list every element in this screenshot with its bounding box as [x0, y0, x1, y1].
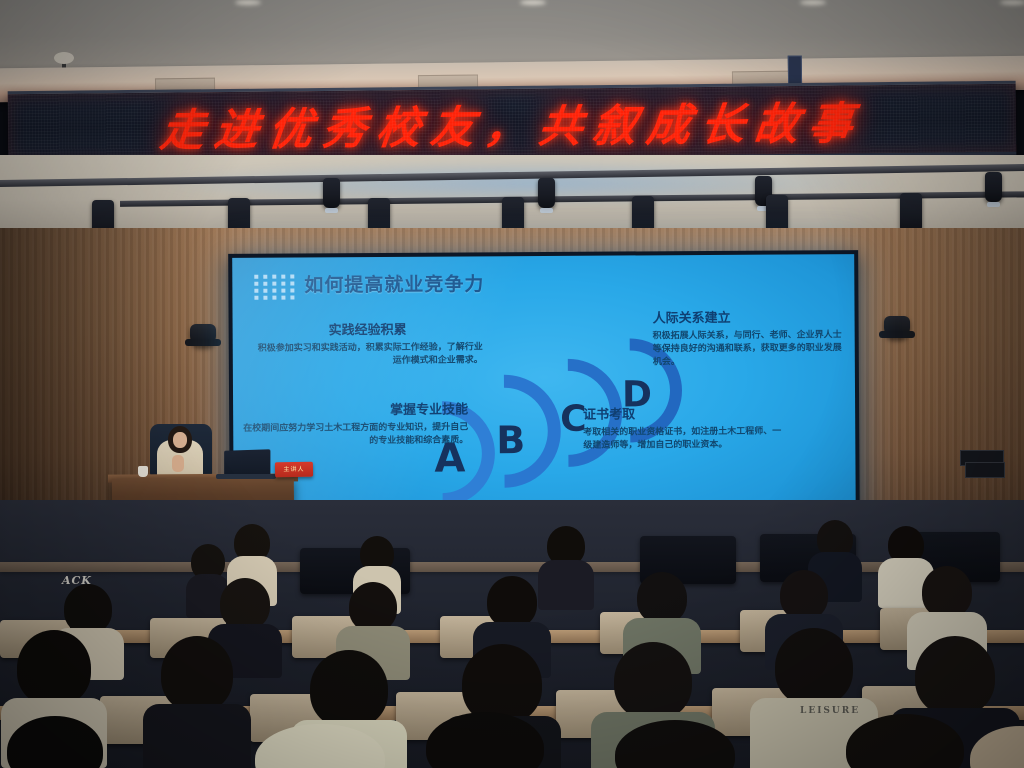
projection-screen-frame: 如何提高就业竞争力 A B C D [228, 250, 860, 532]
person-head [846, 714, 964, 768]
person-head [7, 716, 103, 768]
audience-person-foreground [830, 714, 980, 768]
stage-spotlight-icon [985, 172, 1002, 202]
stage-spotlight-icon [538, 178, 555, 208]
wall-speaker-icon [190, 324, 216, 346]
water-cup [138, 466, 148, 477]
lecture-hall-photo: 走进优秀校友，共叙成长故事 如何提高就业竞争力 [0, 0, 1024, 768]
person-head [161, 636, 233, 712]
audience-person-foreground [600, 720, 750, 768]
presentation-slide: 如何提高就业竞争力 A B C D [232, 254, 856, 528]
person-head [426, 712, 544, 768]
slide-block-c: 证书考取 考取相关的职业资格证书，如注册土木工程师、一级建造师等，增加自己的职业… [583, 403, 783, 453]
slide-block-b-body: 积极参加实习和实践活动，积累实际工作经验，了解行业运作模式和企业需求。 [253, 341, 483, 368]
audience-area: LEISURE ACK [0, 500, 1024, 768]
laptop-base [216, 474, 276, 479]
led-banner: 走进优秀校友，共叙成长故事 [8, 81, 1017, 166]
person-head [255, 724, 385, 768]
audience-person-foreground [0, 716, 120, 768]
person-head [970, 726, 1024, 768]
slide-dot-grid-decoration [254, 275, 296, 300]
wall-speaker-icon [884, 316, 910, 338]
person-head [922, 566, 972, 618]
audience-person-foreground [960, 726, 1024, 768]
person-head [487, 576, 537, 628]
ceiling-fixture [54, 52, 74, 64]
slide-block-c-heading: 证书考取 [583, 403, 783, 423]
slide-block-d-heading: 人际关系建立 [652, 306, 842, 326]
slide-title: 如何提高就业竞争力 [304, 269, 484, 297]
stage-spotlight-icon [900, 193, 922, 233]
slide-block-b: 实践经验积累 积极参加实习和实践活动，积累实际工作经验，了解行业运作模式和企业需… [253, 318, 483, 368]
person-head [915, 636, 995, 716]
wall-vent-grille [965, 462, 1005, 478]
led-banner-text: 走进优秀校友，共叙成长故事 [157, 87, 866, 158]
ceiling-light [520, 0, 546, 5]
slide-block-a-body: 在校期间应努力学习土木工程方面的专业知识，提升自己的专业技能和综合素质。 [243, 421, 468, 448]
person-head [614, 642, 692, 720]
jacket-graphic-text: ACK [62, 574, 92, 587]
speaker-nameplate: 主讲人 [275, 462, 313, 478]
person-head [64, 584, 112, 634]
slide-block-d: 人际关系建立 积极拓展人际关系，与同行、老师、企业界人士等保持良好的沟通和联系，… [652, 306, 842, 369]
svg-text:B: B [496, 418, 525, 462]
desk-row [0, 562, 1024, 572]
person-head [17, 630, 91, 706]
audience-person [540, 526, 592, 608]
person-head [310, 650, 388, 728]
speaker-hands [172, 455, 184, 472]
ceiling-light [800, 0, 826, 5]
audience-person-foreground [410, 712, 560, 768]
person-head [780, 570, 828, 620]
person-head [637, 572, 687, 624]
stage-spotlight-icon [323, 178, 340, 208]
slide-block-c-body: 考取相关的职业资格证书，如注册土木工程师、一级建造师等，增加自己的职业资本。 [583, 426, 783, 453]
slide-block-a-heading: 掌握专业技能 [243, 398, 468, 418]
ceiling-light [1000, 0, 1024, 5]
person-body [538, 560, 594, 610]
slide-block-a: 掌握专业技能 在校期间应努力学习土木工程方面的专业知识，提升自己的专业技能和综合… [243, 398, 468, 448]
audience-person [150, 636, 244, 768]
speaker-face [173, 432, 187, 448]
speaker-nameplate-text: 主讲人 [275, 462, 313, 478]
person-head [220, 578, 270, 630]
slide-block-b-heading: 实践经验积累 [253, 318, 483, 338]
person-head [615, 720, 735, 768]
person-head [775, 628, 853, 706]
person-head [349, 582, 397, 632]
slide-block-d-body: 积极拓展人际关系，与同行、老师、企业界人士等保持良好的沟通和联系，获取更多的职业… [653, 329, 843, 369]
audience-person-foreground [240, 724, 400, 768]
person-body [143, 704, 251, 768]
ceiling-light [235, 0, 261, 5]
